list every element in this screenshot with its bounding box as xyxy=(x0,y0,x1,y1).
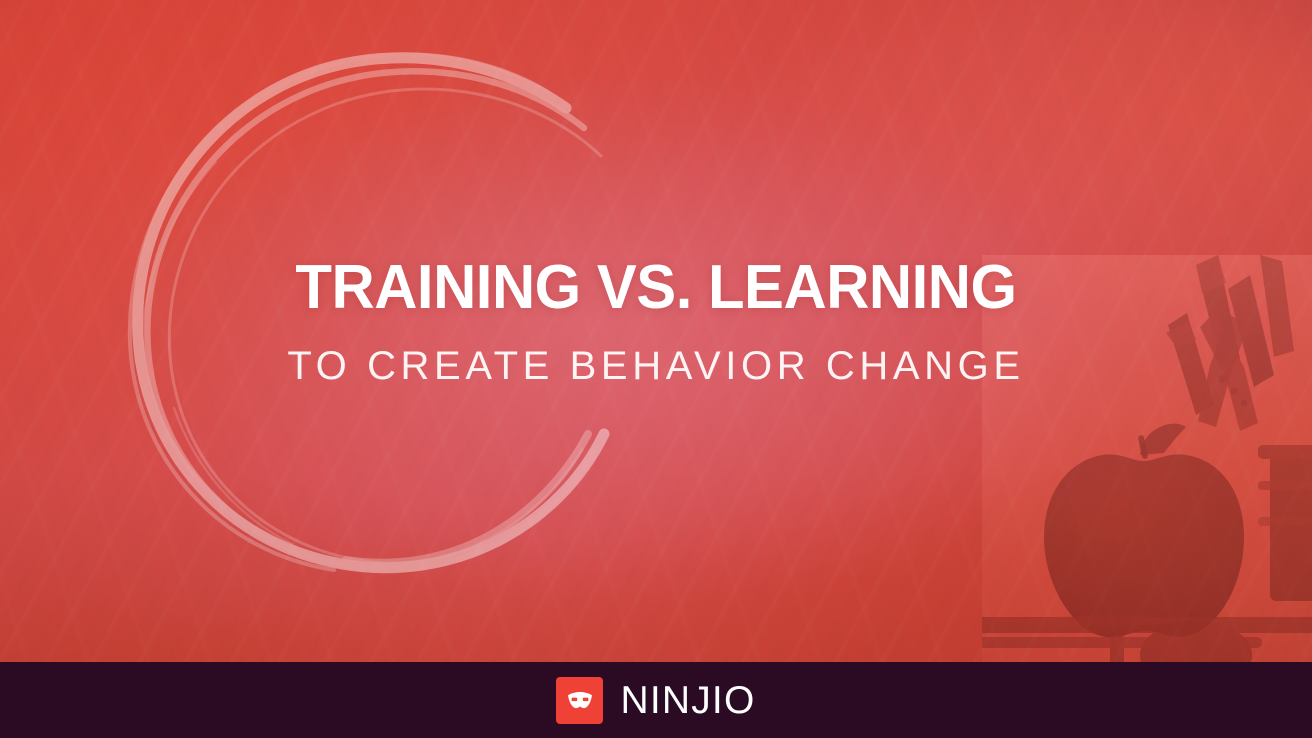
ninjio-logo-lockup[interactable]: NINJIO xyxy=(556,677,755,724)
ninja-mask-icon xyxy=(556,677,603,724)
page-subtitle: TO CREATE BEHAVIOR CHANGE xyxy=(0,345,1312,387)
title-slide: TRAINING VS. LEARNING TO CREATE BEHAVIOR… xyxy=(0,0,1312,738)
page-title: TRAINING VS. LEARNING xyxy=(23,256,1289,320)
brand-name: NINJIO xyxy=(620,681,755,720)
footer-bar: NINJIO xyxy=(0,662,1312,738)
